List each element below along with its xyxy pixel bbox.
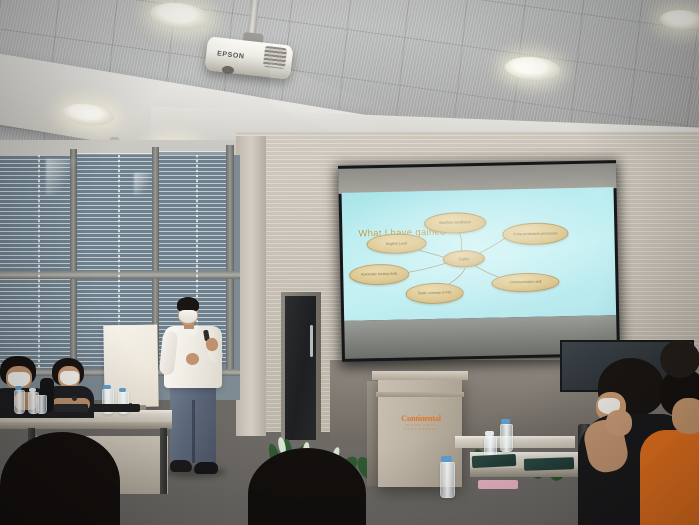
bottle-cap (441, 456, 452, 462)
bottle-cap (29, 388, 36, 392)
table-leg (160, 428, 167, 494)
screen-glow (342, 187, 617, 321)
notebook[interactable] (472, 454, 517, 468)
window-transom (0, 271, 240, 279)
foreground-audience-head (0, 432, 120, 525)
photo-scene: EPSON (0, 0, 699, 525)
presenter-shoe-left (170, 460, 192, 472)
podium-top (372, 371, 468, 380)
bottle-cap (15, 386, 22, 390)
projection-screen: What I have gained English Level Machine… (338, 160, 620, 362)
bottle-cap (103, 385, 111, 389)
audience-face (672, 398, 699, 434)
water-bottle[interactable] (14, 390, 25, 414)
laptop-on-table[interactable] (92, 404, 140, 412)
window-pane (158, 151, 228, 269)
audience-head-rear (660, 340, 699, 378)
door-handle[interactable] (310, 325, 313, 357)
bottle-cap (119, 388, 126, 392)
projector-vent (263, 46, 287, 69)
audience-hand (606, 410, 632, 436)
window-pane (76, 153, 154, 273)
podium-tagline-secondary: CONTINENTAL (390, 428, 452, 431)
bottle-cap (501, 419, 510, 424)
audience-face-mask (8, 372, 30, 387)
audience-torso-orange-shirt (640, 430, 699, 525)
water-bottle[interactable] (500, 424, 513, 452)
window-mullion (226, 145, 234, 371)
podium-tagline: The Future in Motion (390, 423, 452, 427)
blind-cord (38, 155, 40, 369)
window-glare (46, 159, 82, 195)
table-right-rear (455, 436, 575, 448)
presenter-shoe-right (194, 462, 218, 474)
water-bottle[interactable] (36, 395, 47, 414)
laptop-on-table[interactable] (54, 404, 88, 412)
presenter-face-mask (179, 310, 197, 323)
room-door[interactable] (285, 296, 316, 440)
wristwatch (72, 396, 77, 401)
podium-continental-logo: Continental (390, 413, 452, 423)
window-glare (134, 173, 158, 195)
water-bottle[interactable] (440, 462, 455, 498)
podium-lip (376, 392, 464, 397)
table-left-edge (0, 422, 172, 429)
bottle-cap (485, 431, 494, 436)
presenter-leg-split (192, 400, 195, 463)
presenter-hand-left (186, 353, 199, 365)
notebook[interactable] (524, 457, 574, 471)
wall-column (236, 136, 266, 436)
audience-face-mask (60, 371, 79, 385)
pink-item-on-table[interactable] (478, 480, 518, 489)
